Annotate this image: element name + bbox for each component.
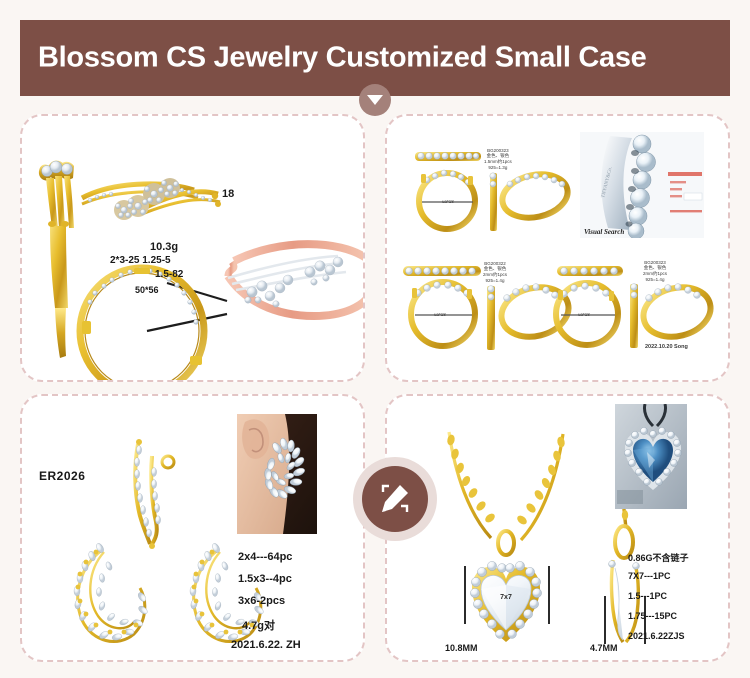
chevron-down-icon <box>367 95 383 105</box>
page-title: Blossom CS Jewelry Customized Small Case <box>38 42 647 75</box>
blue-heart-photo <box>615 404 687 509</box>
ring-date-stamp: 2022.10.20 Song <box>645 344 688 350</box>
ring-annotation-2: BG200322 金色、银色 2mm约1pcs 925=1.4g <box>483 261 507 283</box>
pendant-spec-line-4: 1.75---15PC <box>628 611 677 621</box>
pendant-spec-line-3: 1.5---1PC <box>628 591 667 601</box>
design-badge[interactable] <box>353 457 437 541</box>
bangle-spec-line-4: 50*56 <box>135 285 159 295</box>
ring-weight-2: 925=1.4g <box>483 278 507 283</box>
ring-annotation-3: BG200323 金色、银色 2mm约1pcs 925=1.4g <box>643 260 667 282</box>
pendant-spec-line-2: 7X7---1PC <box>628 571 671 581</box>
ring-weight-3: 925=1.4g <box>643 277 667 282</box>
silver-band-photo: TIFFANY&Co. <box>580 132 704 238</box>
case-card-pendant[interactable]: 7x7 <box>385 394 730 662</box>
ring-diameter-label-3: ua*18 <box>578 312 590 317</box>
earring-spec-line-4: 4.7g对 <box>242 617 275 633</box>
jewelry-case-page: Blossom CS Jewelry Customized Small Case <box>0 0 750 678</box>
case-card-earring[interactable]: ER2026 <box>20 394 365 662</box>
pendant-reference-photo[interactable] <box>615 404 687 509</box>
ring-diameter-label-2: ua*18 <box>434 312 446 317</box>
bangle-dimension-label: 18 <box>222 188 234 200</box>
case-card-ring[interactable]: BG200323 金色、银色 1.5mm约1pcs 925=1.3g BG200… <box>385 114 730 382</box>
ring-annotation-1: BG200323 金色、银色 1.5mm约1pcs 925=1.3g <box>484 148 512 170</box>
scroll-down-badge[interactable] <box>359 84 391 116</box>
ring-diameter-label-1: ua*18 <box>442 199 454 204</box>
pendant-depth-label: 4.7MM <box>590 643 618 653</box>
earring-reference-photo[interactable] <box>237 414 317 534</box>
visual-search-caption: Visual Search <box>584 228 624 236</box>
model-earring-photo <box>237 414 317 534</box>
earring-style-code: ER2026 <box>39 469 85 483</box>
pendant-stone-size-glyph: 7x7 <box>500 594 512 601</box>
pendant-spec-line-1: 0.86G不含链子 <box>628 551 689 564</box>
bangle-spec-line-3: 1.5-82 <box>155 269 183 280</box>
bangle-spec-line-1: 10.3g <box>150 241 178 253</box>
earring-spec-line-2: 1.5x3--4pc <box>238 573 292 585</box>
ring-weight-1: 925=1.3g <box>484 165 512 170</box>
pencil-design-icon <box>378 482 412 516</box>
case-grid: 18 10.3g 2*3-25 1.25-5 1.5-82 50*56 <box>20 114 730 662</box>
design-badge-inner <box>362 466 428 532</box>
earring-spec-line-5: 2021.6.22. ZH <box>231 639 301 651</box>
bangle-spec-line-2: 2*3-25 1.25-5 <box>110 255 171 266</box>
earring-spec-line-3: 3x6-2pcs <box>238 595 285 607</box>
earring-spec-line-1: 2x4---64pc <box>238 551 292 563</box>
bangle-cad-illustration <box>22 116 365 382</box>
pendant-width-label: 10.8MM <box>445 643 478 653</box>
case-card-bangle[interactable]: 18 10.3g 2*3-25 1.25-5 1.5-82 50*56 <box>20 114 365 382</box>
ring-reference-photo[interactable]: TIFFANY&Co. Visual Search <box>580 132 704 238</box>
pendant-spec-line-5: 2021.6.22ZJS <box>628 631 685 641</box>
